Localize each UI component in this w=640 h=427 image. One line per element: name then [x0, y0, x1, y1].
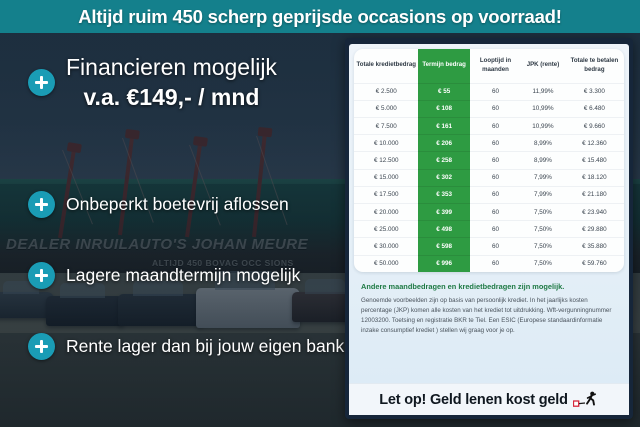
cell-krediet: € 2.500	[354, 83, 418, 100]
table-row: € 20.000€ 399607,50%€ 23.940	[354, 203, 624, 220]
cell-krediet: € 12.500	[354, 152, 418, 169]
feature-item-aflossen: Onbeperkt boetevrij aflossen	[28, 191, 289, 218]
cell-jkp: 10,99%	[521, 118, 565, 135]
cell-looptijd: 60	[470, 100, 521, 117]
cell-krediet: € 17.500	[354, 186, 418, 203]
cell-termijn: € 996	[418, 255, 469, 272]
top-headline-banner: Altijd ruim 450 scherp geprijsde occasio…	[0, 0, 640, 33]
cell-jkp: 8,99%	[521, 135, 565, 152]
column-header-termijn: Termijn bedrag	[418, 49, 469, 83]
disclaimer-section: Andere maandbedragen en kredietbedragen …	[349, 272, 629, 337]
cell-termijn: € 399	[418, 203, 469, 220]
feature-label: Rente lager dan bij jouw eigen bank	[66, 336, 344, 357]
cell-termijn: € 353	[418, 186, 469, 203]
column-header-looptijd: Looptijd in maanden	[470, 49, 521, 83]
table-row: € 5.000€ 1086010,99%€ 6.480	[354, 100, 624, 117]
feature-label: Onbeperkt boetevrij aflossen	[66, 194, 289, 215]
column-header-krediet: Totale kredietbedrag	[354, 49, 418, 83]
feature-line-1: Financieren mogelijk	[66, 54, 277, 80]
feature-list: Financieren mogelijk v.a. €149,- / mnd O…	[0, 33, 345, 427]
table-row: € 12.500€ 258608,99%€ 15.480	[354, 152, 624, 169]
cell-termijn: € 302	[418, 169, 469, 186]
cell-looptijd: 60	[470, 186, 521, 203]
cell-krediet: € 25.000	[354, 221, 418, 238]
cell-totaal: € 3.300	[565, 83, 624, 100]
table-row: € 2.500€ 556011,99%€ 3.300	[354, 83, 624, 100]
cell-totaal: € 35.880	[565, 238, 624, 255]
rate-table-panel: Totale kredietbedrag Termijn bedrag Loop…	[354, 49, 624, 272]
cell-krediet: € 30.000	[354, 238, 418, 255]
column-header-totaal: Totale te betalen bedrag	[565, 49, 624, 83]
cell-jkp: 11,99%	[521, 83, 565, 100]
headline-text: Altijd ruim 450 scherp geprijsde occasio…	[78, 6, 562, 28]
table-row: € 17.500€ 353607,99%€ 21.180	[354, 186, 624, 203]
plus-icon	[28, 191, 55, 218]
cell-krediet: € 10.000	[354, 135, 418, 152]
cell-looptijd: 60	[470, 152, 521, 169]
column-header-jkp: JPK (rente)	[521, 49, 565, 83]
cell-totaal: € 23.940	[565, 203, 624, 220]
cell-jkp: 8,99%	[521, 152, 565, 169]
cell-looptijd: 60	[470, 118, 521, 135]
rate-table: Totale kredietbedrag Termijn bedrag Loop…	[354, 49, 624, 272]
cell-looptijd: 60	[470, 203, 521, 220]
feature-item-rente: Rente lager dan bij jouw eigen bank	[28, 333, 344, 360]
cell-termijn: € 258	[418, 152, 469, 169]
table-header-row: Totale kredietbedrag Termijn bedrag Loop…	[354, 49, 624, 83]
warning-bar: Let op! Geld lenen kost geld	[349, 383, 629, 415]
cell-jkp: 7,50%	[521, 255, 565, 272]
table-row: € 25.000€ 498607,50%€ 29.880	[354, 221, 624, 238]
feature-label: Financieren mogelijk v.a. €149,- / mnd	[66, 54, 277, 111]
cell-totaal: € 12.360	[565, 135, 624, 152]
table-row: € 30.000€ 598607,50%€ 35.880	[354, 238, 624, 255]
cell-termijn: € 498	[418, 221, 469, 238]
cell-termijn: € 108	[418, 100, 469, 117]
table-row: € 50.000€ 996607,50%€ 59.760	[354, 255, 624, 272]
cell-termijn: € 598	[418, 238, 469, 255]
promo-banner-page: DEALER INRUILAUTO'S JOHAN MEURE ALTIJD 4…	[0, 0, 640, 427]
feature-label: Lagere maandtermijn mogelijk	[66, 265, 300, 286]
cell-krediet: € 15.000	[354, 169, 418, 186]
rate-card-frame: Totale kredietbedrag Termijn bedrag Loop…	[345, 38, 633, 419]
rate-card: Totale kredietbedrag Termijn bedrag Loop…	[349, 44, 629, 415]
cell-looptijd: 60	[470, 221, 521, 238]
cell-totaal: € 18.120	[565, 169, 624, 186]
rate-table-head: Totale kredietbedrag Termijn bedrag Loop…	[354, 49, 624, 83]
ball-and-chain-runner-icon	[573, 391, 599, 408]
cell-totaal: € 59.760	[565, 255, 624, 272]
cell-jkp: 7,99%	[521, 169, 565, 186]
cell-totaal: € 9.660	[565, 118, 624, 135]
plus-icon	[28, 333, 55, 360]
cell-looptijd: 60	[470, 135, 521, 152]
cell-termijn: € 161	[418, 118, 469, 135]
cell-jkp: 7,50%	[521, 221, 565, 238]
feature-item-financieren: Financieren mogelijk v.a. €149,- / mnd	[28, 54, 277, 111]
rate-table-body: € 2.500€ 556011,99%€ 3.300€ 5.000€ 10860…	[354, 83, 624, 272]
cell-looptijd: 60	[470, 255, 521, 272]
feature-line-2: v.a. €149,- / mnd	[66, 84, 277, 111]
cell-totaal: € 6.480	[565, 100, 624, 117]
cell-looptijd: 60	[470, 83, 521, 100]
disclaimer-heading: Andere maandbedragen en kredietbedragen …	[361, 282, 617, 292]
cell-jkp: 7,50%	[521, 203, 565, 220]
plus-icon	[28, 69, 55, 96]
cell-krediet: € 50.000	[354, 255, 418, 272]
cell-totaal: € 21.180	[565, 186, 624, 203]
table-row: € 7.500€ 1616010,99%€ 9.660	[354, 118, 624, 135]
cell-jkp: 7,50%	[521, 238, 565, 255]
cell-totaal: € 15.480	[565, 152, 624, 169]
table-row: € 10.000€ 206608,99%€ 12.360	[354, 135, 624, 152]
cell-krediet: € 20.000	[354, 203, 418, 220]
cell-totaal: € 29.880	[565, 221, 624, 238]
plus-icon	[28, 262, 55, 289]
table-row: € 15.000€ 302607,99%€ 18.120	[354, 169, 624, 186]
cell-jkp: 10,99%	[521, 100, 565, 117]
cell-krediet: € 5.000	[354, 100, 418, 117]
feature-item-maandtermijn: Lagere maandtermijn mogelijk	[28, 262, 300, 289]
cell-termijn: € 206	[418, 135, 469, 152]
cell-krediet: € 7.500	[354, 118, 418, 135]
disclaimer-body: Genoemde voorbeelden zijn op basis van p…	[361, 296, 617, 336]
cell-jkp: 7,99%	[521, 186, 565, 203]
warning-text: Let op! Geld lenen kost geld	[379, 392, 568, 408]
cell-looptijd: 60	[470, 169, 521, 186]
cell-looptijd: 60	[470, 238, 521, 255]
cell-termijn: € 55	[418, 83, 469, 100]
